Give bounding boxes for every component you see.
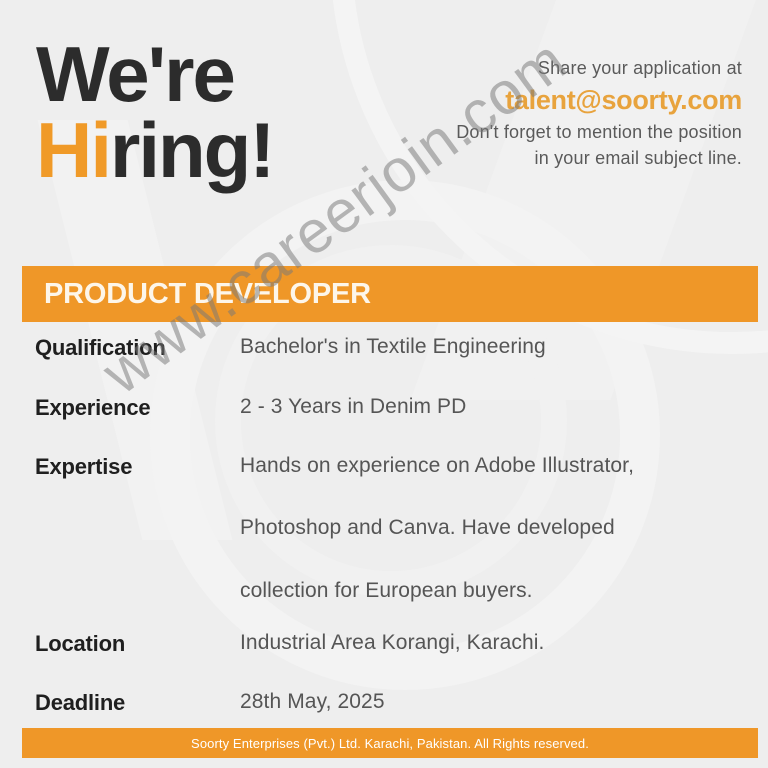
headline-accent-hi: Hi xyxy=(36,106,110,194)
detail-label: Experience xyxy=(35,394,240,422)
detail-row-experience: Experience 2 - 3 Years in Denim PD xyxy=(35,394,735,422)
detail-value: Hands on experience on Adobe Illustrator… xyxy=(240,453,735,604)
detail-label: Expertise xyxy=(35,453,240,481)
headline-rest: ring! xyxy=(110,106,273,194)
detail-value-line: collection for European buyers. xyxy=(240,578,735,604)
detail-row-location: Location Industrial Area Korangi, Karach… xyxy=(35,630,735,658)
detail-value: 28th May, 2025 xyxy=(240,689,735,715)
contact-intro-text: Share your application at xyxy=(302,56,742,82)
application-email-address[interactable]: talent@soorty.com xyxy=(302,84,742,118)
copyright-text: Soorty Enterprises (Pvt.) Ltd. Karachi, … xyxy=(191,736,589,751)
detail-label: Location xyxy=(35,630,240,658)
job-title-bar: PRODUCT DEVELOPER xyxy=(22,266,758,322)
detail-value: Bachelor's in Textile Engineering xyxy=(240,334,735,360)
job-advertisement-poster: We're Hiring! Share your application at … xyxy=(0,0,768,768)
contact-note-line-one: Don't forget to mention the position xyxy=(302,120,742,146)
detail-value: Industrial Area Korangi, Karachi. xyxy=(240,630,735,656)
detail-value-line: Hands on experience on Adobe Illustrator… xyxy=(240,453,735,479)
contact-note-line-two: in your email subject line. xyxy=(302,146,742,172)
detail-value-line: Photoshop and Canva. Have developed xyxy=(240,515,735,541)
detail-value: 2 - 3 Years in Denim PD xyxy=(240,394,735,420)
detail-row-qualification: Qualification Bachelor's in Textile Engi… xyxy=(35,334,735,362)
contact-block: Share your application at talent@soorty.… xyxy=(302,56,742,171)
detail-label: Deadline xyxy=(35,689,240,717)
detail-row-deadline: Deadline 28th May, 2025 xyxy=(35,689,735,717)
hiring-headline: We're Hiring! xyxy=(36,36,273,189)
job-title-text: PRODUCT DEVELOPER xyxy=(22,278,371,311)
detail-row-expertise: Expertise Hands on experience on Adobe I… xyxy=(35,453,735,604)
detail-label: Qualification xyxy=(35,334,240,362)
job-details-list: Qualification Bachelor's in Textile Engi… xyxy=(35,334,735,749)
headline-line-one: We're xyxy=(36,30,234,118)
headline-line-two: Hiring! xyxy=(36,112,273,188)
copyright-footer-bar: Soorty Enterprises (Pvt.) Ltd. Karachi, … xyxy=(22,728,758,758)
